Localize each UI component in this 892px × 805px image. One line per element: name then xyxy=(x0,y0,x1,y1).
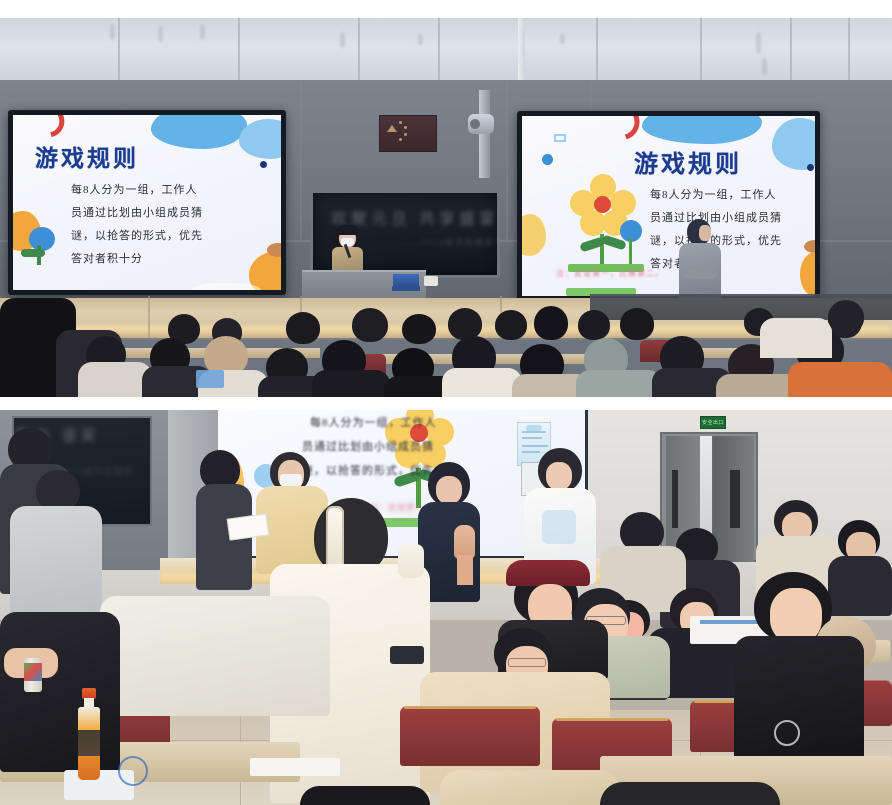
photo-composite: 游戏规则 每8人分为一组，工作人 员通过比划由小组成员猜 谜，以抢答的形式，优先… xyxy=(0,0,892,805)
photo-top-lecture-hall-wide: 游戏规则 每8人分为一组，工作人 员通过比划由小组成员猜 谜，以抢答的形式，优先… xyxy=(0,18,892,397)
laptop-base xyxy=(392,286,420,291)
phone-screen-icon xyxy=(196,370,224,388)
audience-person xyxy=(312,370,390,397)
national-flag-icon xyxy=(379,115,437,152)
deco-blue-blob-2 xyxy=(239,119,286,159)
paper-stack xyxy=(424,276,438,286)
audience-person-orange-coat xyxy=(788,362,892,397)
slide-right-title: 游戏规则 xyxy=(634,144,742,179)
deco-blue-blob-2 xyxy=(772,118,820,170)
slide-right-note: 注：友谊第一，比赛第二。 xyxy=(556,268,664,279)
deco-blue-blob xyxy=(642,111,762,144)
bottle-label xyxy=(78,730,100,756)
audience-head xyxy=(620,308,654,340)
slide-left-line-1: 每8人分为一组，工作人 xyxy=(71,181,198,197)
exit-sign: 安全出口 xyxy=(700,416,726,429)
projection-screen-left: 游戏规则 每8人分为一组，工作人 员通过比划由小组成员猜 谜，以抢答的形式，优先… xyxy=(8,110,286,295)
baseball-cap-icon xyxy=(506,560,590,586)
foreground-shoulder xyxy=(440,770,620,805)
slide-left-line-4: 答对者积十分 xyxy=(71,250,143,266)
seat-trim xyxy=(404,706,536,709)
audience-person-white-coat xyxy=(760,318,832,358)
seat-trim xyxy=(556,718,668,721)
exit-sign-label: 安全出口 xyxy=(702,419,724,426)
slide-left: 游戏规则 每8人分为一组，工作人 员通过比划由小组成员猜 谜，以抢答的形式，优先… xyxy=(13,115,281,290)
deco-highlight xyxy=(191,283,261,295)
raised-hand-student xyxy=(452,525,478,585)
audience-person xyxy=(78,362,152,397)
deco-yellow-shape xyxy=(517,214,546,256)
fur-hood-student xyxy=(720,572,880,762)
deco-blue-blob xyxy=(151,110,247,149)
audience-head xyxy=(402,314,436,344)
slide-right-line-1: 每8人分为一组，工作人 xyxy=(650,186,777,202)
slide-left-title: 游戏规则 xyxy=(35,139,139,173)
blackboard-chalk-subtitle: ——2024级学前教育专业 xyxy=(401,237,515,248)
person-black-sleeve-left xyxy=(0,612,120,772)
deco-dot xyxy=(807,164,814,171)
laptop-icon xyxy=(393,274,419,286)
deco-outline-box xyxy=(554,134,566,142)
glasses-icon xyxy=(508,658,546,667)
face-mask-icon xyxy=(280,474,302,486)
foreground-head-2 xyxy=(600,782,780,805)
deco-tan-shape xyxy=(804,240,820,253)
audience-head xyxy=(534,306,568,340)
seat xyxy=(400,706,540,766)
deco-orange-shape xyxy=(800,252,820,296)
soda-can xyxy=(24,658,42,692)
projector-mount xyxy=(479,90,490,178)
person-grey-hoodie xyxy=(10,470,102,630)
slide-left-line-3: 谜，以抢答的形式，优先 xyxy=(71,227,203,243)
deco-stem xyxy=(37,245,41,265)
bottom-slide-line-1: 每8人分为一组，工作人 xyxy=(310,414,437,430)
audience-head xyxy=(828,300,864,334)
projector-lens-icon xyxy=(470,119,480,129)
person-white-puffer-lower xyxy=(100,596,330,716)
paper-on-desk xyxy=(250,758,340,776)
deco-tan-shape xyxy=(267,243,286,257)
projection-screen-right: 游戏规则 每8人分为一组，工作人 员通过比划由小组成员猜 谜，以抢答的形式，优先… xyxy=(517,111,820,301)
foreground-head xyxy=(300,786,430,805)
deco-red-arc xyxy=(588,111,646,148)
audience-person xyxy=(442,368,522,397)
cap-icon xyxy=(336,225,360,235)
audience-head xyxy=(352,308,388,342)
notebook-logo xyxy=(118,756,148,786)
audience-head xyxy=(495,310,527,340)
jacket-logo xyxy=(774,720,800,746)
audience-person-hoodie xyxy=(576,370,662,397)
phone-icon xyxy=(390,646,424,664)
slide-right: 游戏规则 每8人分为一组，工作人 员通过比划由小组成员猜 谜，以抢答的形式，优先… xyxy=(522,116,815,296)
hair-clip-icon xyxy=(326,506,344,570)
deco-blue-circle xyxy=(29,227,55,251)
slide-left-line-2: 员通过比划由小组成员猜 xyxy=(71,204,203,220)
deco-dot xyxy=(260,161,267,168)
audience-head xyxy=(578,310,610,340)
audience-head xyxy=(286,312,320,344)
drink-bottle xyxy=(78,688,100,780)
deco-leaf xyxy=(21,249,45,257)
deco-small-circle xyxy=(542,154,553,165)
